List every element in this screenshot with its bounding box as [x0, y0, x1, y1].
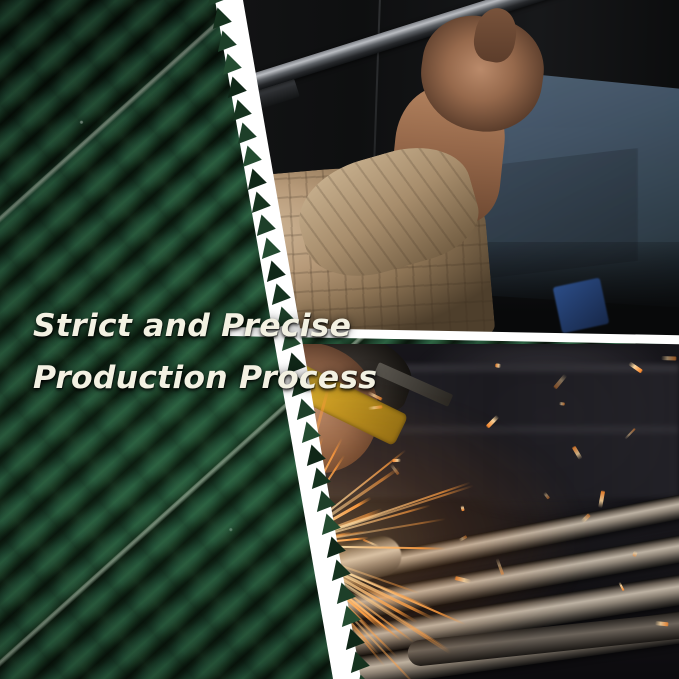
spark-ember: [495, 363, 501, 368]
spark-ember: [393, 459, 402, 462]
spark-ember: [632, 550, 638, 557]
spark-ember: [624, 427, 636, 439]
blue-equipment: [552, 278, 608, 334]
spark-ember: [618, 581, 625, 591]
spark-ember: [655, 621, 670, 626]
spark-ember: [628, 361, 643, 373]
spark-ember: [599, 490, 606, 509]
product-feature-banner: Strict and Precise Production Process: [0, 0, 679, 679]
spark-ember: [661, 356, 677, 361]
